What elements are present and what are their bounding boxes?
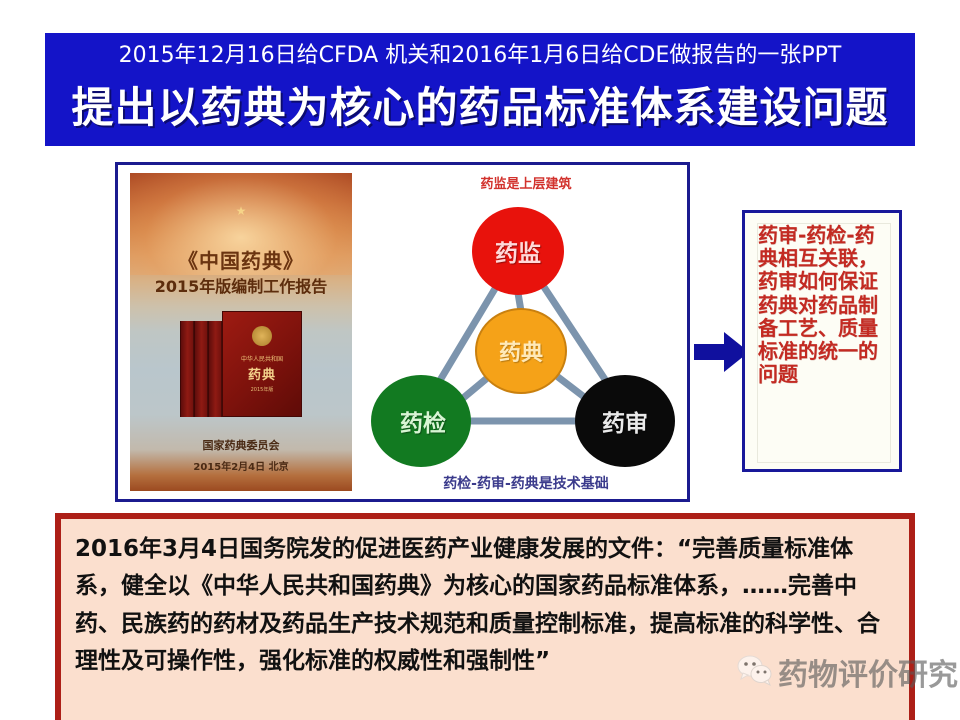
note-text: 药审-药检-药典相互关联，药审如何保证药典对药品制备工艺、质量标准的统一的问题 — [758, 224, 890, 386]
book-volume-stack: 中华人民共和国 药典 2015年版 — [180, 313, 302, 417]
book-title-line2: 2015年版编制工作报告 — [130, 273, 352, 297]
header-subtitle: 2015年12月16日给CFDA 机关和2016年1月6日给CDE做报告的一张P… — [119, 45, 842, 67]
emblem-icon — [252, 326, 272, 346]
book-title-line1: 《中国药典》 — [130, 245, 352, 274]
volume-front-top: 中华人民共和国 — [223, 354, 301, 363]
node-yaodian-circle — [476, 309, 566, 393]
book-spine — [208, 321, 222, 417]
page-title: 提出以药典为核心的药品标准体系建设问题 — [71, 87, 888, 129]
diagram-svg — [366, 169, 686, 495]
document-quote-box: 2016年3月4日国务院发的促进医药产业健康发展的文件：“完善质量标准体系，健全… — [55, 513, 915, 720]
volume-front-sub: 2015年版 — [223, 386, 301, 393]
diagram-caption-bottom: 药检-药审-药典是技术基础 — [443, 473, 609, 493]
book-cover-image: ★ 《中国药典》 2015年版编制工作报告 中华人民共和国 药典 2015年版 … — [130, 173, 352, 491]
content-panel: ★ 《中国药典》 2015年版编制工作报告 中华人民共和国 药典 2015年版 … — [115, 162, 690, 502]
book-organization: 国家药典委员会 — [130, 437, 352, 453]
node-yaojian-left-circle — [371, 375, 471, 467]
book-date-place: 2015年2月4日 北京 — [130, 458, 352, 473]
node-yaoshen-circle — [575, 375, 675, 467]
diagram-caption-top: 药监是上层建筑 — [480, 173, 571, 192]
star-icon: ★ — [236, 205, 247, 217]
relationship-diagram: 药监是上层建筑 药监 药典 药检 药审 药检-药审-药典是技术基础 — [366, 169, 686, 495]
book-spine — [194, 321, 208, 417]
header-banner: 2015年12月16日给CFDA 机关和2016年1月6日给CDE做报告的一张P… — [45, 33, 915, 146]
document-quote-text: 2016年3月4日国务院发的促进医药产业健康发展的文件：“完善质量标准体系，健全… — [75, 531, 895, 680]
note-box-inner: 药审-药检-药典相互关联，药审如何保证药典对药品制备工艺、质量标准的统一的问题 — [757, 223, 891, 463]
note-box: 药审-药检-药典相互关联，药审如何保证药典对药品制备工艺、质量标准的统一的问题 — [742, 210, 902, 472]
book-spine — [180, 321, 194, 417]
book-front-cover: 中华人民共和国 药典 2015年版 — [222, 311, 302, 417]
volume-front-main: 药典 — [223, 364, 301, 383]
node-yaojian-circle — [472, 207, 564, 295]
